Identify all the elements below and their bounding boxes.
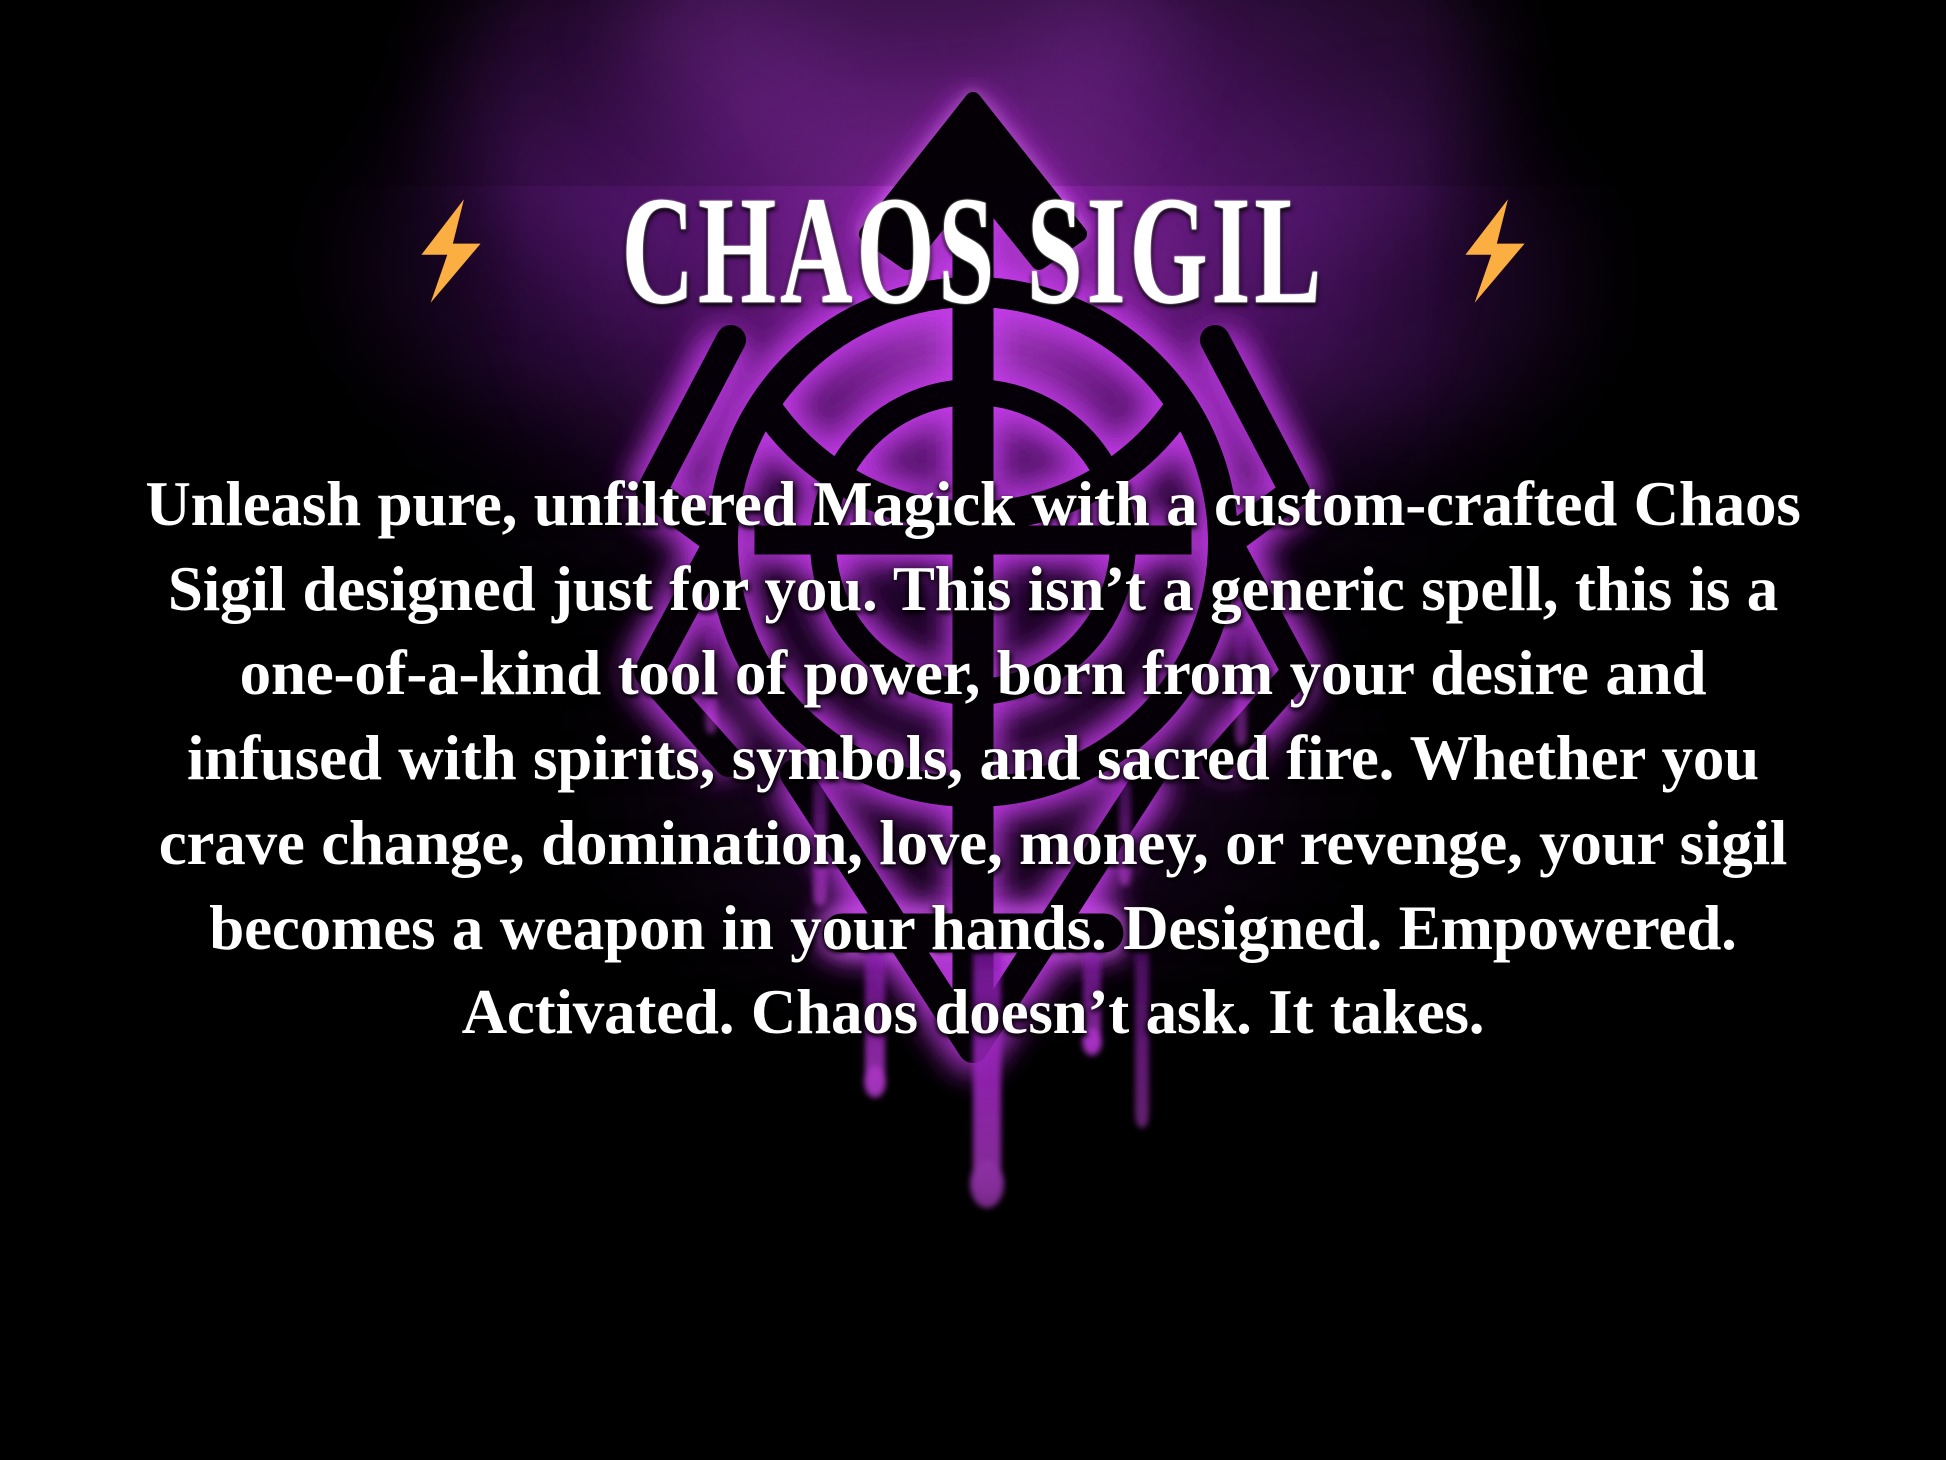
smoke-wisp (640, 0, 1160, 190)
poster-canvas: CHAOS SIGIL Unleash pure, unfiltered Mag… (0, 0, 1946, 1460)
description-paragraph: Unleash pure, unfiltered Magick with a c… (143, 462, 1803, 1055)
title-row: CHAOS SIGIL (0, 186, 1946, 316)
lightning-bolt-icon (1458, 196, 1532, 306)
lightning-bolt-icon (414, 196, 488, 306)
exposure-band-top (0, 0, 1946, 186)
page-title: CHAOS SIGIL (621, 173, 1324, 328)
exposure-band-bottom (0, 1300, 1946, 1460)
